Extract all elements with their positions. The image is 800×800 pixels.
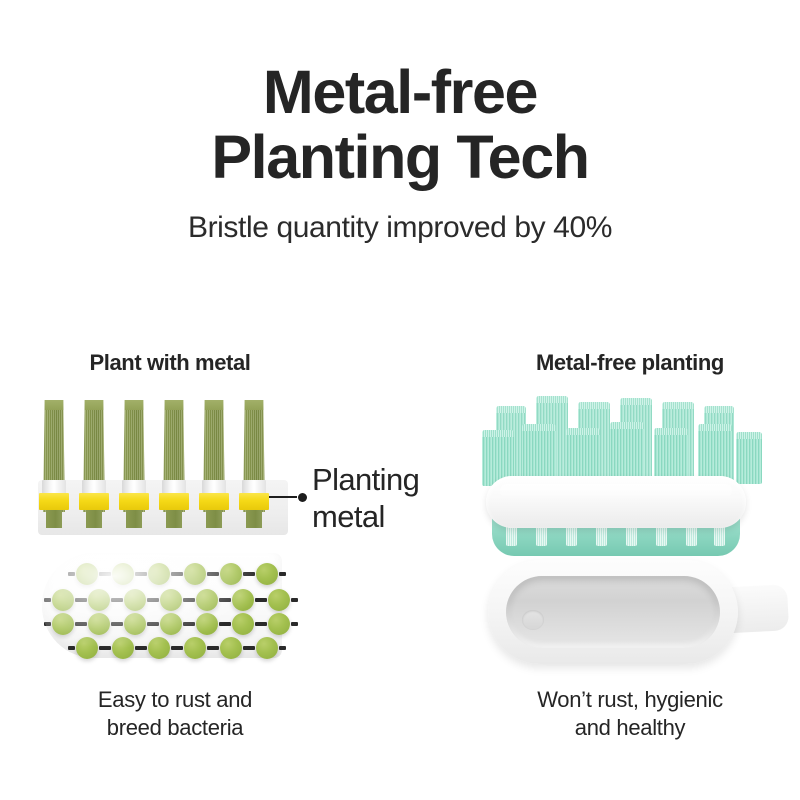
mint-bristle-tuft xyxy=(736,432,762,484)
bristle-dot xyxy=(196,613,218,635)
metal-tuft xyxy=(202,400,226,535)
bristle-dot xyxy=(256,637,278,659)
metal-free-brush-head xyxy=(478,388,768,558)
bristle-dot xyxy=(220,637,242,659)
annotation-line-1: Planting xyxy=(312,462,419,497)
bristle-dot xyxy=(112,637,134,659)
bristle-dot xyxy=(76,637,98,659)
bristle-dot xyxy=(256,563,278,585)
bristle-dot xyxy=(232,589,254,611)
metal-tuft xyxy=(42,400,66,535)
metal-stapled-tufts-diagram xyxy=(38,400,288,535)
bristle-dot xyxy=(112,563,134,585)
bristle-dot xyxy=(232,613,254,635)
tuft-foot xyxy=(86,508,102,528)
planting-metal-annotation: Planting metal xyxy=(312,462,492,535)
bristle-dot xyxy=(124,613,146,635)
tuft-foot xyxy=(246,508,262,528)
bristle-dot xyxy=(52,613,74,635)
bristle-dot xyxy=(184,637,206,659)
bristle-dot xyxy=(196,589,218,611)
header: Metal-free Planting Tech Bristle quantit… xyxy=(0,0,800,245)
left-column-heading: Plant with metal xyxy=(0,350,340,376)
page-subtitle: Bristle quantity improved by 40% xyxy=(0,211,800,245)
bristle-dot xyxy=(268,589,290,611)
planting-metal-staple xyxy=(79,493,109,510)
metal-tuft xyxy=(82,400,106,535)
bristle-dot xyxy=(124,589,146,611)
bristle-dot xyxy=(160,613,182,635)
right-column-caption: Won’t rust, hygienic and healthy xyxy=(430,686,800,742)
bristle-dot xyxy=(88,613,110,635)
planting-metal-staple xyxy=(239,493,269,510)
right-caption-line-2: and healthy xyxy=(575,715,685,740)
bristle-dot xyxy=(76,563,98,585)
title-line-2: Planting Tech xyxy=(0,125,800,190)
brush-head-back-view xyxy=(488,560,788,670)
left-caption-line-2: breed bacteria xyxy=(107,715,243,740)
tuft-foot xyxy=(46,508,62,528)
bristle-dot xyxy=(52,589,74,611)
right-column-heading: Metal-free planting xyxy=(430,350,800,376)
bristle-dot xyxy=(148,563,170,585)
metal-tuft xyxy=(122,400,146,535)
bristle-dot xyxy=(160,589,182,611)
tuft-foot xyxy=(206,508,222,528)
planting-metal-staple xyxy=(159,493,189,510)
right-caption-line-1: Won’t rust, hygienic xyxy=(537,687,723,712)
annotation-line-2: metal xyxy=(312,499,385,534)
bristle-dot xyxy=(268,613,290,635)
left-column-caption: Easy to rust and breed bacteria xyxy=(10,686,340,742)
tuft-foot xyxy=(166,508,182,528)
title-line-1: Metal-free xyxy=(263,58,537,126)
bristle-dot xyxy=(184,563,206,585)
brush-head-back-recess xyxy=(506,576,720,648)
planting-metal-staple xyxy=(39,493,69,510)
page-title: Metal-free Planting Tech xyxy=(0,0,800,189)
metal-brush-head-top-view xyxy=(42,553,282,658)
bristle-dot xyxy=(220,563,242,585)
brush-head-back-body xyxy=(488,560,738,664)
planting-metal-staple xyxy=(199,493,229,510)
bristle-dot xyxy=(88,589,110,611)
brush-head-body xyxy=(486,476,746,528)
metal-tuft xyxy=(162,400,186,535)
leader-line-dot xyxy=(298,493,307,502)
left-caption-line-1: Easy to rust and xyxy=(98,687,252,712)
planting-metal-staple xyxy=(119,493,149,510)
metal-tuft xyxy=(242,400,266,535)
tuft-foot xyxy=(126,508,142,528)
bristle-dot xyxy=(148,637,170,659)
